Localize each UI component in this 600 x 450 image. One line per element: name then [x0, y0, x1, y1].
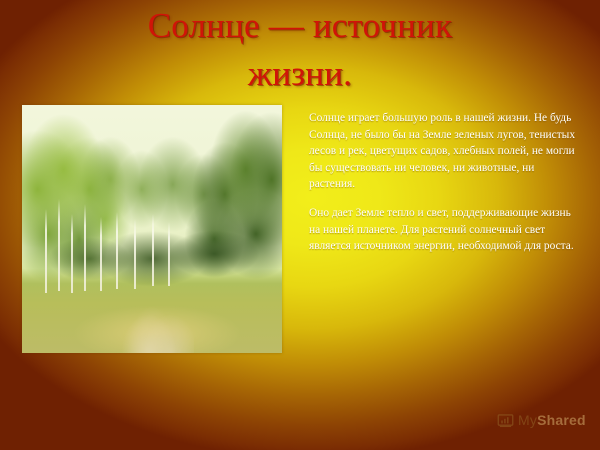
birch-trunk: [168, 222, 170, 286]
birch-trunk: [134, 219, 136, 288]
dirt-road: [116, 284, 194, 353]
birch-trunk: [45, 209, 47, 293]
forest-photo-image: [22, 105, 282, 353]
myshared-projector-icon: [497, 412, 514, 429]
birch-trunk: [71, 214, 73, 293]
birch-trunk: [116, 212, 118, 289]
body-paragraph: Солнце играет большую роль в нашей жизни…: [309, 110, 577, 193]
birch-trunk: [152, 214, 154, 286]
watermark-text-my: My: [518, 412, 537, 428]
slide-body-text: Солнце играет большую роль в нашей жизни…: [309, 110, 577, 255]
birch-trunk: [58, 199, 60, 291]
slide-title: Солнце — источник жизни.: [0, 2, 600, 98]
body-paragraph: Оно дает Земле тепло и свет, поддерживаю…: [309, 205, 577, 255]
birch-trunk: [84, 204, 86, 291]
myshared-watermark[interactable]: MyShared: [497, 412, 586, 429]
presentation-slide: Солнце — источник жизни. Солнце играет б…: [0, 0, 600, 450]
myshared-watermark-label: MyShared: [518, 412, 586, 429]
watermark-text-shared: Shared: [537, 412, 586, 428]
forest-photo: [22, 105, 282, 353]
birch-trunk: [100, 217, 102, 291]
